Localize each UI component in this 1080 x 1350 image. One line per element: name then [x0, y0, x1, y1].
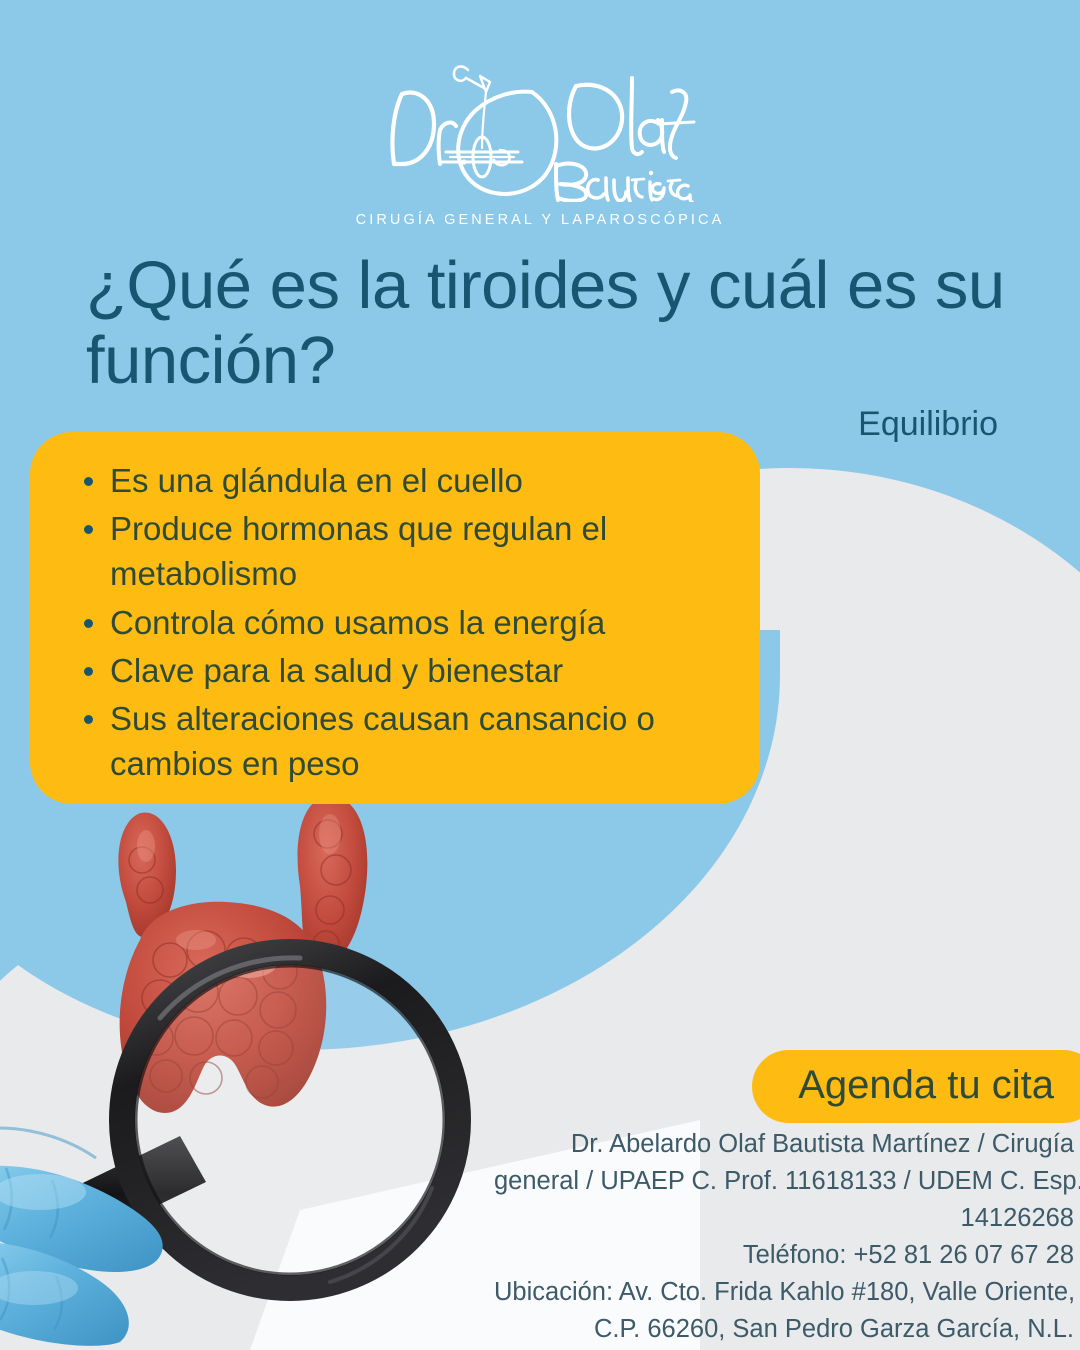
contact-line-credentials-1: Dr. Abelardo Olaf Bautista Martínez / Ci…: [494, 1126, 1074, 1163]
list-item: Sus alteraciones causan cansancio o camb…: [56, 696, 730, 786]
logo-tagline: CIRUGÍA GENERAL Y LAPAROSCÓPICA: [0, 212, 1080, 228]
contact-line-credentials-2: general / UPAEP C. Prof. 11618133 / UDEM…: [494, 1163, 1074, 1200]
contact-phone[interactable]: Teléfono: +52 81 26 07 67 28: [494, 1237, 1074, 1274]
headline-kicker: Equilibrio: [858, 405, 998, 444]
list-item: Controla cómo usamos la energía: [56, 600, 730, 645]
contact-address-2: C.P. 66260, San Pedro Garza García, N.L.: [494, 1311, 1074, 1348]
list-item: Es una glándula en el cuello: [56, 458, 730, 503]
brand-logo: CIRUGÍA GENERAL Y LAPAROSCÓPICA: [0, 52, 1080, 228]
list-item: Produce hormonas que regulan el metaboli…: [56, 506, 730, 596]
schedule-appointment-button[interactable]: Agenda tu cita: [752, 1050, 1080, 1123]
page-title: ¿Qué es la tiroides y cuál es su función…: [86, 248, 1026, 398]
key-facts-card: Es una glándula en el cuello Produce hor…: [30, 432, 760, 804]
contact-info: Dr. Abelardo Olaf Bautista Martínez / Ci…: [494, 1126, 1074, 1350]
poster-canvas: CIRUGÍA GENERAL Y LAPAROSCÓPICA ¿Qué es …: [0, 0, 1080, 1350]
contact-line-credentials-3: 14126268: [494, 1200, 1074, 1237]
list-item: Clave para la salud y bienestar: [56, 648, 730, 693]
surgical-needle-hook-icon: [380, 52, 700, 202]
key-facts-list: Es una glándula en el cuello Produce hor…: [56, 458, 730, 786]
contact-address-1: Ubicación: Av. Cto. Frida Kahlo #180, Va…: [494, 1274, 1074, 1311]
